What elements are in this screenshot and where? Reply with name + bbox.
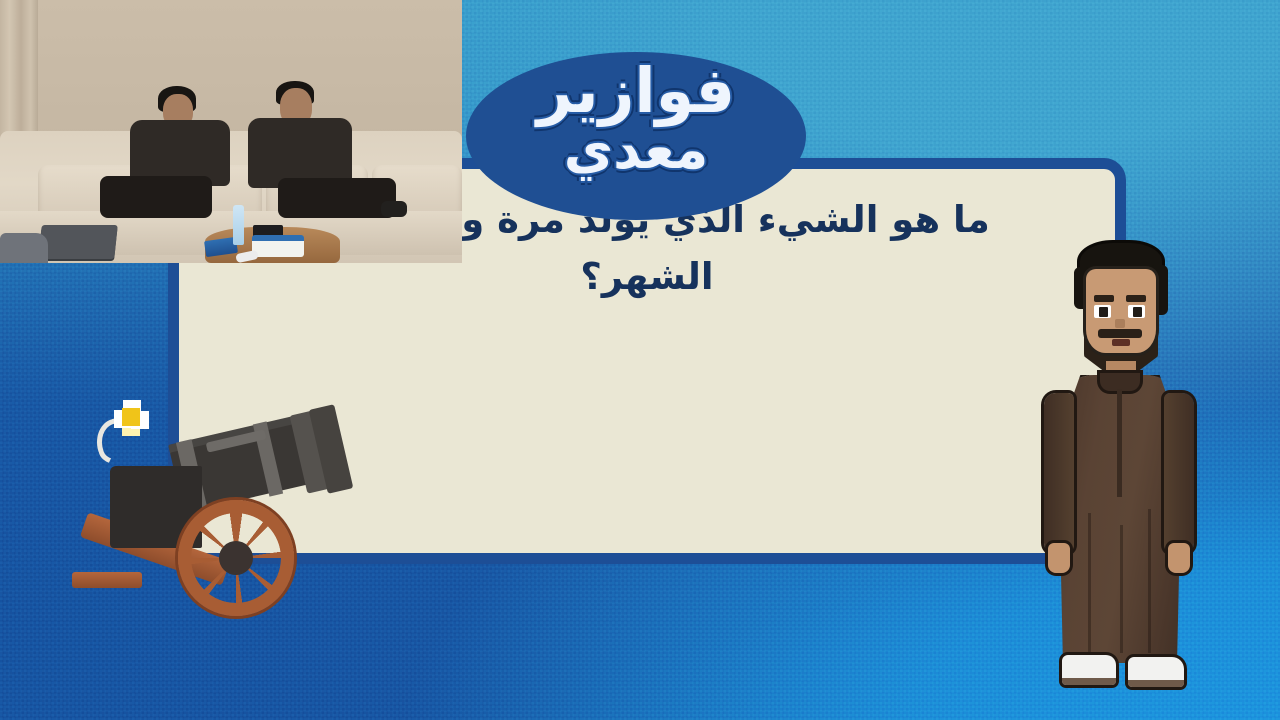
screen-stage: ما هو الشيء الذي يولد مرة واحدة في الشهر… bbox=[0, 0, 1280, 720]
webcam-person-legs bbox=[100, 176, 212, 218]
cannon-trail-end bbox=[72, 572, 142, 588]
character-eyebrow bbox=[1094, 295, 1114, 302]
character-arm-left bbox=[1044, 393, 1074, 553]
pixel-character-avatar bbox=[1036, 243, 1202, 690]
character-thobe-fold bbox=[1148, 509, 1151, 653]
character-moustache bbox=[1098, 329, 1142, 338]
character-pupil bbox=[1099, 307, 1108, 317]
webcam-person-legs bbox=[278, 178, 396, 218]
webcam-inset[interactable] bbox=[0, 0, 462, 263]
webcam-bag bbox=[0, 233, 48, 263]
webcam-tissue-box bbox=[252, 235, 304, 257]
logo-text-block: فوازير معدي bbox=[466, 62, 806, 175]
character-hand-right bbox=[1168, 543, 1190, 573]
cannon-fuse-spark-icon bbox=[122, 408, 140, 426]
show-logo: فوازير معدي bbox=[466, 52, 806, 220]
character-arm-right bbox=[1164, 393, 1194, 553]
logo-line-1: فوازير bbox=[466, 62, 806, 119]
webcam-laptop bbox=[38, 225, 118, 259]
character-thobe-fold bbox=[1120, 525, 1123, 653]
character-shoe-sole bbox=[1062, 678, 1116, 685]
character-placket bbox=[1117, 389, 1122, 497]
character-shoe-sole bbox=[1128, 680, 1184, 687]
webcam-water-bottle bbox=[233, 205, 244, 245]
character-hand-left bbox=[1048, 543, 1070, 573]
character-nose bbox=[1115, 319, 1125, 328]
character-eyebrow bbox=[1126, 295, 1146, 302]
cannon-wheel-hub bbox=[219, 541, 253, 575]
webcam-dark-object bbox=[381, 201, 407, 217]
character-thobe-fold bbox=[1088, 513, 1091, 653]
character-pupil bbox=[1133, 307, 1142, 317]
character-mouth bbox=[1112, 339, 1130, 346]
logo-line-2: معدي bbox=[466, 125, 806, 175]
pixel-cannon bbox=[86, 404, 368, 620]
